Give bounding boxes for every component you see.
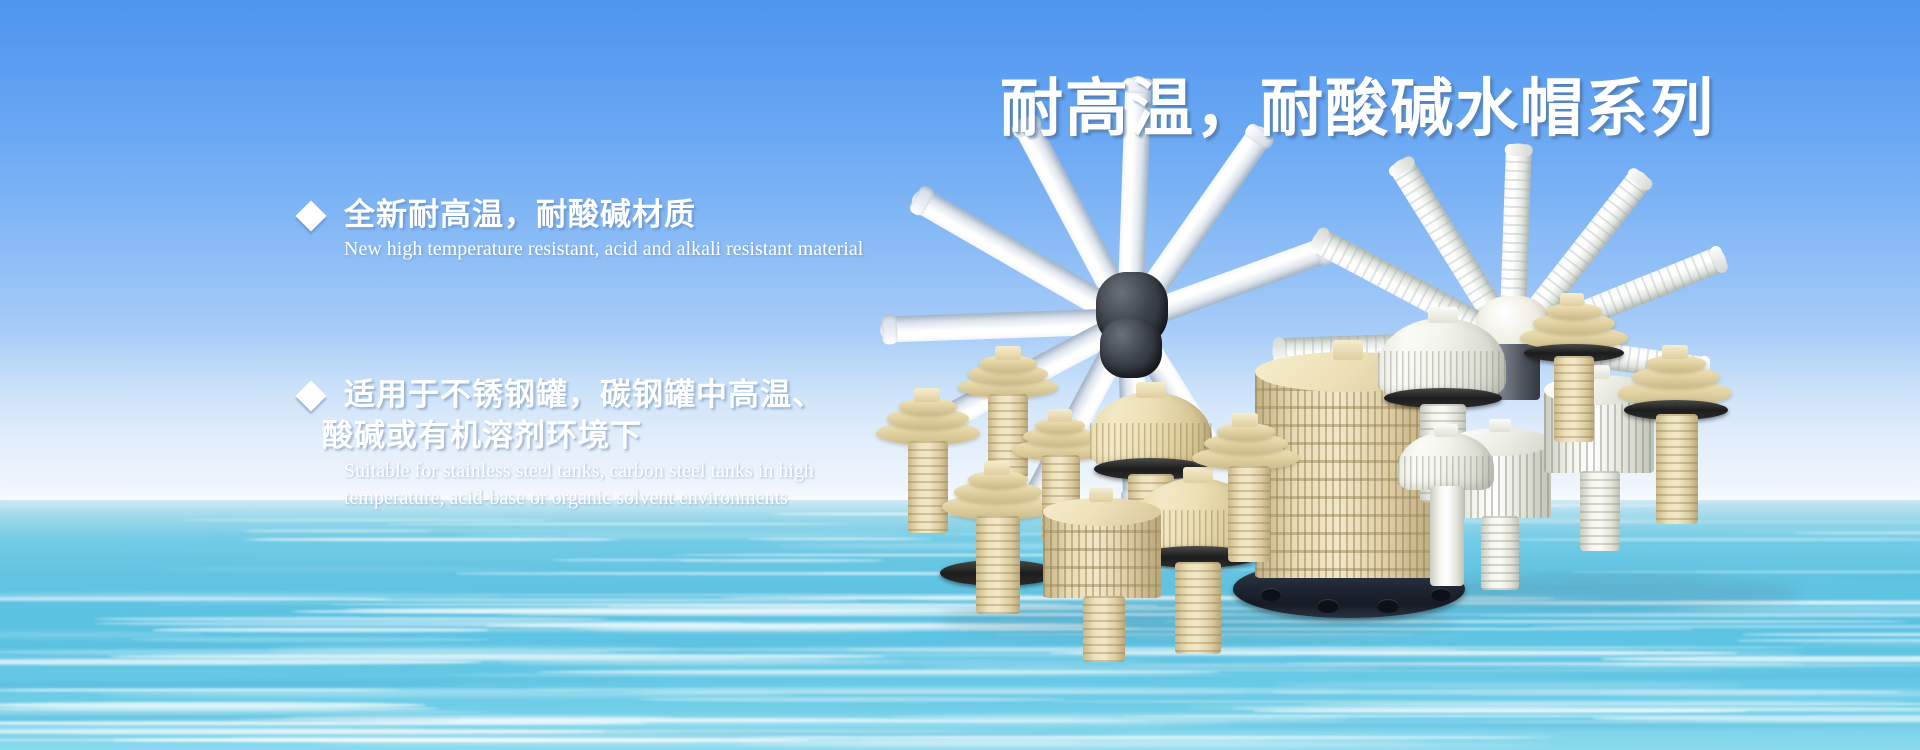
flange-bolt-hole xyxy=(1261,588,1281,601)
bullet-2-en-line-2: temperature, acid-base or organic solven… xyxy=(344,486,824,511)
banner-title: 耐高温，耐酸碱水帽系列 xyxy=(1000,58,1715,149)
nozzle-knob xyxy=(984,461,1010,475)
bullet-2-cn-line-2: 酸碱或有机溶剂环境下 xyxy=(322,416,824,457)
bullet-2: 适用于不锈钢罐，碳钢罐中高温、 酸碱或有机溶剂环境下 Suitable for … xyxy=(300,375,824,511)
nozzle-knob xyxy=(1434,424,1458,437)
nozzle-knob xyxy=(995,346,1021,360)
nozzle-dome-ribs xyxy=(1398,456,1494,490)
nozzle-knob xyxy=(1428,307,1458,323)
strainer-knob xyxy=(1089,488,1113,502)
header-hub-core xyxy=(1100,318,1162,378)
nozzle-dome-cap xyxy=(1398,432,1494,490)
diamond-bullet-icon xyxy=(295,200,326,231)
flange-bolt-hole xyxy=(1377,599,1399,613)
strainer-stem xyxy=(1580,471,1620,551)
nozzle-knob xyxy=(1048,409,1072,422)
beige-pagoda-nozzle xyxy=(1190,420,1302,570)
bullet-2-cn-line-1: 适用于不锈钢罐，碳钢罐中高温、 xyxy=(344,375,824,416)
nozzle-knob xyxy=(914,388,940,402)
bullet-1-en: New high temperature resistant, acid and… xyxy=(344,237,863,262)
strainer-knob xyxy=(1489,419,1511,432)
nozzle-stem xyxy=(1554,356,1594,442)
nozzle-dome-cap xyxy=(1378,318,1506,396)
nozzle-knob xyxy=(1662,345,1688,359)
strainer-stem xyxy=(1083,596,1125,662)
beige-pagoda-nozzle xyxy=(1618,352,1734,532)
bullet-1-cn: 全新耐高温，耐酸碱材质 xyxy=(344,195,696,236)
bullet-2-en-line-1: Suitable for stainless steel tanks, carb… xyxy=(344,459,824,484)
nozzle-knob xyxy=(1232,413,1258,427)
strainer-top-cap xyxy=(1043,498,1161,526)
nozzle-stem xyxy=(1430,486,1464,586)
nozzle-knob xyxy=(1136,382,1166,398)
filter-top-knob xyxy=(1333,340,1363,360)
flange-bolt-hole xyxy=(1317,599,1339,613)
bullet-1: 全新耐高温，耐酸碱材质 New high temperature resista… xyxy=(300,195,863,262)
nozzle-stem xyxy=(1175,562,1221,654)
beige-ribbed-strainer xyxy=(1043,498,1163,663)
white-dome-nozzle xyxy=(1398,432,1494,587)
flange-bolt-hole xyxy=(1431,588,1451,601)
nozzle-knob xyxy=(1560,293,1584,306)
beige-pagoda-nozzle xyxy=(1520,300,1630,450)
product-banner: 耐高温，耐酸碱水帽系列 全新耐高温，耐酸碱材质 New high tempera… xyxy=(0,0,1920,750)
nozzle-stem xyxy=(1228,466,1270,562)
nozzle-stem xyxy=(1656,414,1698,524)
